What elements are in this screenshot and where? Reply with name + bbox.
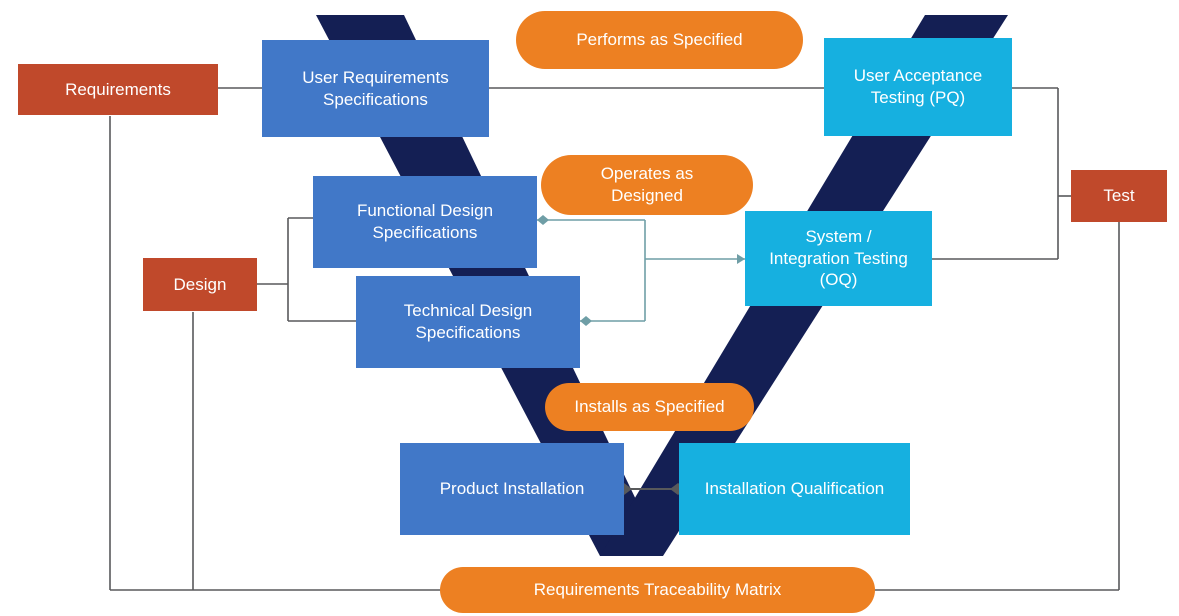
pill-requirements-traceability-matrix[interactable]: Requirements Traceability Matrix xyxy=(440,567,875,613)
v-model-diagram: Requirements Design Test User Requiremen… xyxy=(0,0,1179,616)
node-product-installation[interactable]: Product Installation xyxy=(400,443,624,535)
node-functional-design-specifications[interactable]: Functional Design Specifications xyxy=(313,176,537,268)
pill-installs-as-specified[interactable]: Installs as Specified xyxy=(545,383,754,431)
node-system-integration-testing[interactable]: System / Integration Testing (OQ) xyxy=(745,211,932,306)
node-technical-design-specifications[interactable]: Technical Design Specifications xyxy=(356,276,580,368)
pill-operates-as-designed[interactable]: Operates as Designed xyxy=(541,155,753,215)
node-user-acceptance-testing[interactable]: User Acceptance Testing (PQ) xyxy=(824,38,1012,136)
stage-label-design[interactable]: Design xyxy=(143,258,257,311)
stage-label-test[interactable]: Test xyxy=(1071,170,1167,222)
node-user-requirements-specifications[interactable]: User Requirements Specifications xyxy=(262,40,489,137)
node-installation-qualification[interactable]: Installation Qualification xyxy=(679,443,910,535)
pill-performs-as-specified[interactable]: Performs as Specified xyxy=(516,11,803,69)
stage-label-requirements[interactable]: Requirements xyxy=(18,64,218,115)
